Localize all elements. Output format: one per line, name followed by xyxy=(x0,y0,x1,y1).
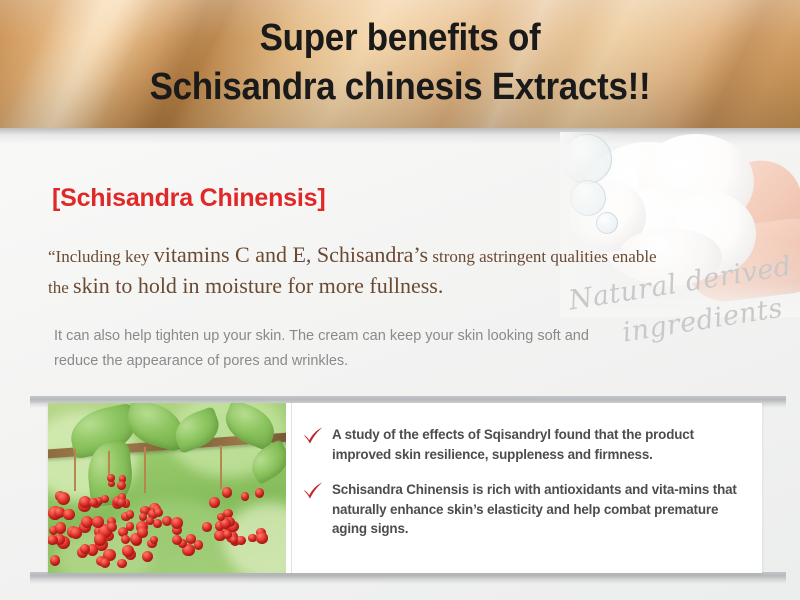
berry xyxy=(48,535,58,545)
berry xyxy=(186,534,196,544)
berry xyxy=(222,487,233,498)
berry-cluster xyxy=(202,485,272,553)
berry xyxy=(126,522,135,531)
berry xyxy=(101,495,109,503)
berry xyxy=(100,558,110,568)
berry xyxy=(150,536,158,544)
soap-bubble-icon xyxy=(596,212,618,234)
supporting-paragraph: It can also help tighten up your skin. T… xyxy=(54,324,634,374)
quote-block: “Including key vitamins C and E, Schisan… xyxy=(48,240,668,302)
check-icon xyxy=(302,480,324,505)
berry xyxy=(153,519,162,528)
list-item: A study of the effects of Sqisandryl fou… xyxy=(302,425,746,464)
berry-stem xyxy=(74,449,76,491)
berry xyxy=(241,492,249,500)
berry xyxy=(255,488,265,498)
berry xyxy=(217,513,225,521)
berry xyxy=(137,527,148,538)
list-item-text: A study of the effects of Sqisandryl fou… xyxy=(332,425,746,464)
berry xyxy=(230,536,238,544)
schisandra-berries-photo xyxy=(48,403,286,573)
berry xyxy=(202,522,212,532)
bottom-panel: A study of the effects of Sqisandryl fou… xyxy=(48,403,762,573)
berry xyxy=(50,555,61,566)
berry xyxy=(57,492,70,505)
berry xyxy=(117,481,126,490)
berry-cluster xyxy=(120,489,204,565)
berry xyxy=(117,498,126,507)
berry xyxy=(122,545,134,557)
berry xyxy=(92,516,104,528)
berry-stem xyxy=(220,445,222,489)
berry-cluster xyxy=(86,469,132,511)
list-item-text: Schisandra Chinensis is rich with antiox… xyxy=(332,480,746,539)
check-icon xyxy=(302,425,324,450)
page-title: Super benefits of Schisandra chinesis Ex… xyxy=(32,14,768,112)
quote-part-2: vitamins C and E, Schisandra’s xyxy=(154,242,428,267)
quote-part-1: “Including key xyxy=(48,247,154,266)
soap-bubble-icon xyxy=(562,134,612,184)
berry xyxy=(63,509,75,521)
berry-stem xyxy=(144,447,146,493)
list-item: Schisandra Chinensis is rich with antiox… xyxy=(302,480,746,539)
berry xyxy=(121,535,130,544)
section-heading: [Schisandra Chinensis] xyxy=(52,184,325,213)
berry xyxy=(256,532,268,544)
berry xyxy=(209,497,220,508)
berry xyxy=(126,510,135,519)
divider-top xyxy=(30,396,786,403)
berry xyxy=(107,474,115,482)
infographic-slide: Super benefits of Schisandra chinesis Ex… xyxy=(0,0,800,600)
quote-part-4: skin to hold in moisture for more fullne… xyxy=(73,273,443,298)
benefits-list: A study of the effects of Sqisandryl fou… xyxy=(298,403,762,573)
berry xyxy=(154,508,163,517)
divider-bottom xyxy=(30,572,786,579)
panel-vertical-divider xyxy=(291,403,292,573)
berry xyxy=(142,551,153,562)
berry xyxy=(55,522,66,533)
berry xyxy=(107,522,117,532)
soap-bubble-icon xyxy=(570,180,606,216)
berry xyxy=(70,527,82,539)
